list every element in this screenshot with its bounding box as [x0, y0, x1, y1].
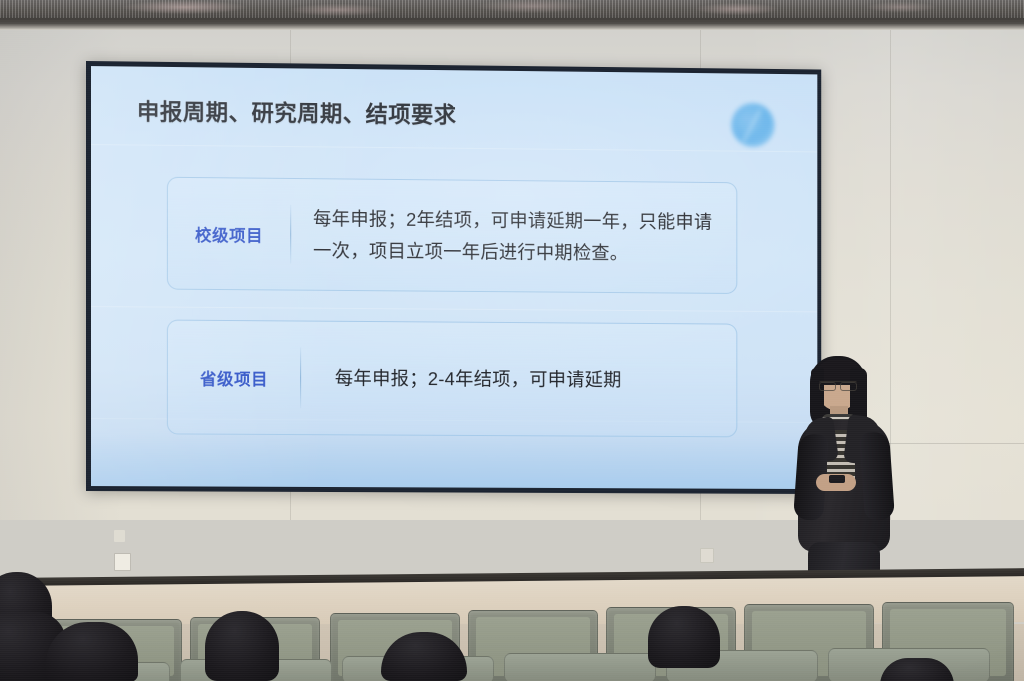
- auditorium-seat-base: [504, 653, 656, 681]
- row-text-province-level: 每年申报；2-4年结项，可申请延期: [301, 362, 736, 396]
- row-label-school-level: 校级项目: [168, 221, 290, 246]
- decorative-circle-icon: [731, 103, 774, 147]
- slide-row-province-level: 省级项目 每年申报；2-4年结项，可申请延期: [167, 320, 737, 438]
- slide-surface: 申报周期、研究周期、结项要求 校级项目 每年申报；2年结项，可申请延期一年，只能…: [91, 66, 817, 489]
- presenter-glasses: [819, 381, 857, 390]
- slide-row-school-level: 校级项目 每年申报；2年结项，可申请延期一年，只能申请一次，项目立项一年后进行中…: [167, 177, 737, 294]
- wall-outlet-plate: [700, 548, 714, 563]
- projector-scan-line: [91, 144, 817, 152]
- projector-scan-line: [91, 306, 817, 312]
- presenter-sleeve-right: [859, 431, 895, 521]
- presenter-hair-left: [811, 368, 824, 420]
- row-label-province-level: 省级项目: [168, 365, 300, 390]
- row-text-school-level: 每年申报；2年结项，可申请延期一年，只能申请一次，项目立项一年后进行中期检查。: [291, 203, 736, 270]
- wall-fixture: [114, 530, 125, 542]
- ceiling-soffit: [0, 18, 1024, 30]
- audience-head: [205, 611, 279, 681]
- lecture-hall-scene: 申报周期、研究周期、结项要求 校级项目 每年申报；2年结项，可申请延期一年，只能…: [0, 0, 1024, 681]
- ceiling-band: [0, 0, 1024, 18]
- presenter-clicker-device: [829, 475, 845, 483]
- audience-head: [648, 606, 720, 668]
- wall-outlet-plate: [114, 553, 131, 571]
- projection-screen-frame: 申报周期、研究周期、结项要求 校级项目 每年申报；2年结项，可申请延期一年，只能…: [86, 61, 821, 494]
- slide-title: 申报周期、研究周期、结项要求: [137, 95, 457, 130]
